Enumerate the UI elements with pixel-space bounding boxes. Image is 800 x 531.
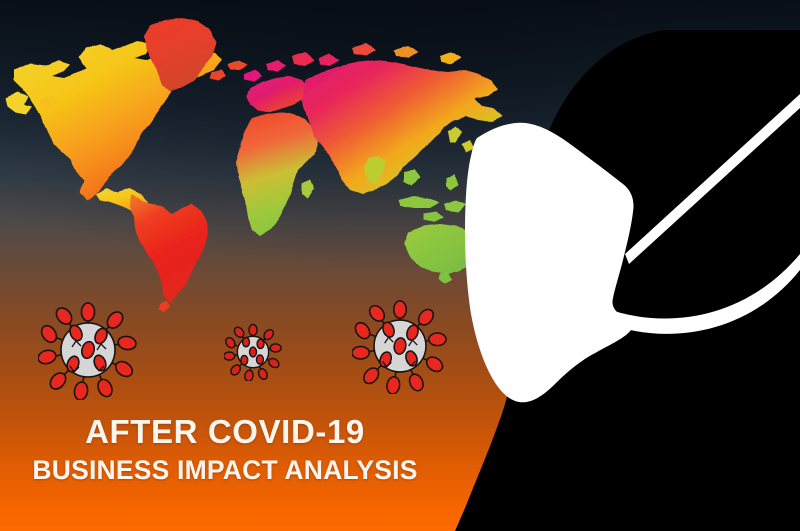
- virus-large-right: [352, 298, 448, 394]
- poster-canvas: AFTER COVID-19 BUSINESS IMPACT ANALYSIS: [0, 0, 800, 531]
- masked-head-silhouette: [455, 30, 800, 531]
- map-region-africa: [236, 112, 318, 236]
- virus-large-left: [38, 300, 138, 400]
- virus-small-center: [224, 323, 282, 381]
- map-region-south-america: [130, 194, 208, 312]
